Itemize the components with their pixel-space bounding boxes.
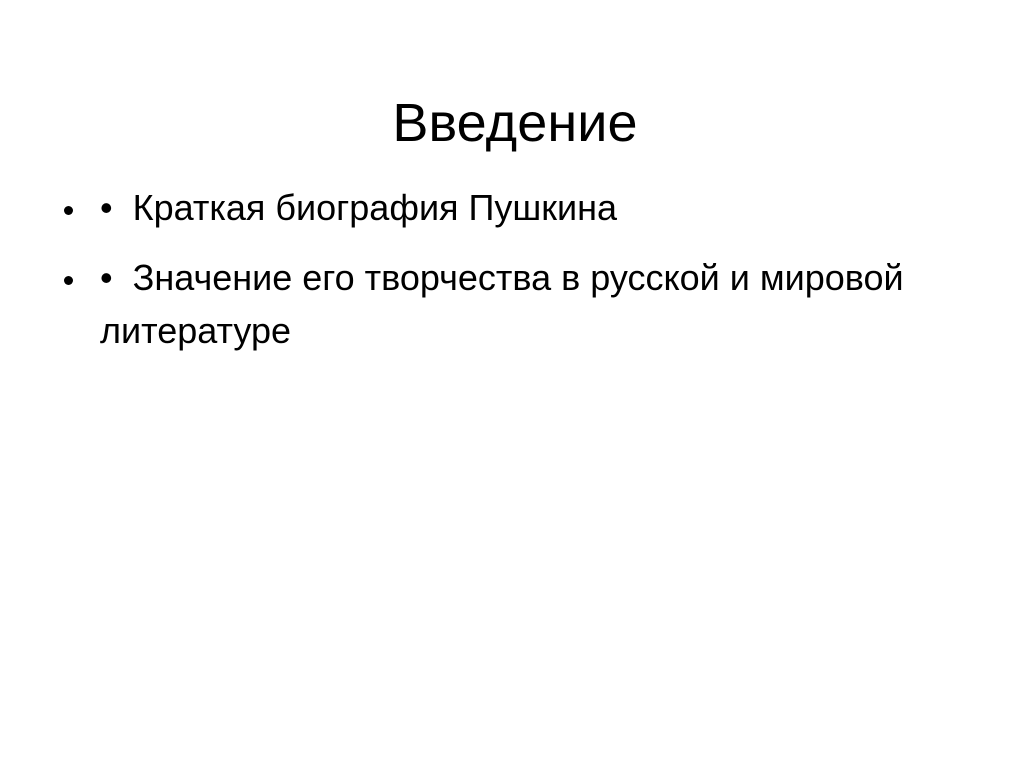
body-block: • Краткая биография Пушкина • Значение е… (58, 181, 958, 357)
inline-bullet-glyph: • (100, 257, 123, 298)
bullet-dot-icon (64, 206, 73, 215)
list-item: • Краткая биография Пушкина (58, 181, 958, 234)
inline-bullet-glyph: • (100, 187, 123, 228)
bullet-list: • Краткая биография Пушкина • Значение е… (58, 181, 958, 357)
bullet-dot-icon (64, 276, 73, 285)
list-item-label: Краткая биография Пушкина (133, 187, 617, 228)
title-block: Введение (0, 56, 1024, 190)
list-item: • Значение его творчества в русской и ми… (58, 251, 958, 357)
slide-canvas: Введение • Краткая биография Пушкина • З… (0, 0, 1024, 767)
page-title: Введение (392, 92, 637, 154)
list-item-label: Значение его творчества в русской и миро… (100, 257, 904, 351)
